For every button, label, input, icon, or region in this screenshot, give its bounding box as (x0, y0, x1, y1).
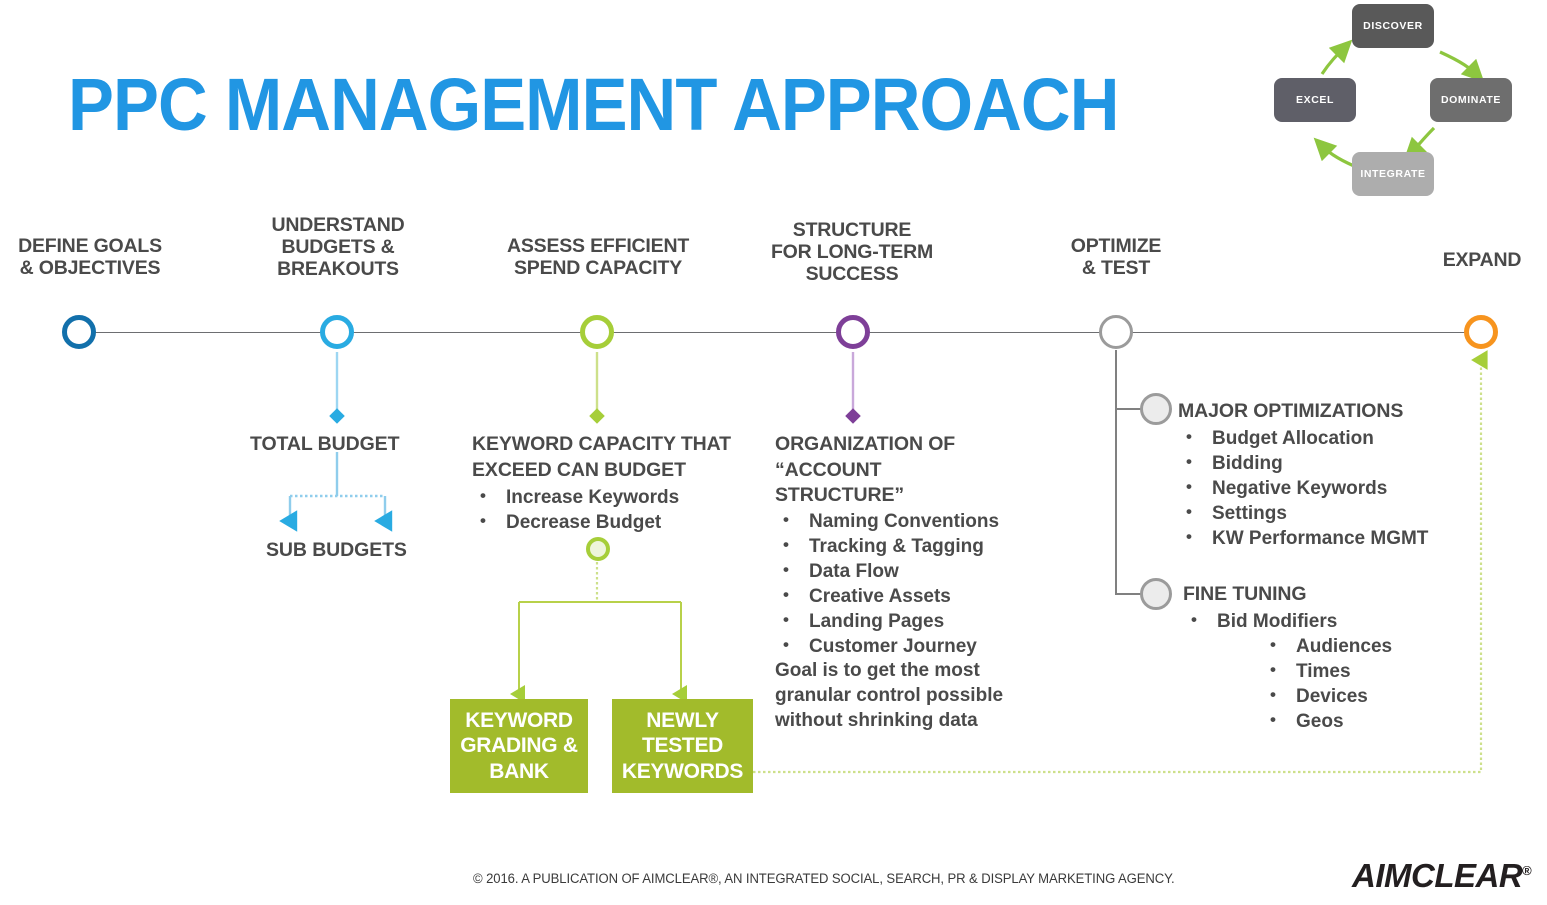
account-structure-bullets: Naming Conventions Tracking & Tagging Da… (775, 509, 1065, 659)
list-item: Decrease Budget (472, 510, 772, 535)
list-item: Geos (1262, 709, 1532, 734)
list-item: Customer Journey (775, 634, 1065, 659)
list-item: Negative Keywords (1178, 476, 1508, 501)
sub-budgets-label: SUB BUDGETS (266, 538, 486, 564)
registered-mark-icon: ® (1522, 863, 1531, 878)
page-title: PPC MANAGEMENT APPROACH (68, 68, 1118, 142)
timeline-label-assess-capacity: ASSESS EFFICIENT SPEND CAPACITY (488, 236, 708, 280)
major-optimizations-bullets: Budget Allocation Bidding Negative Keywo… (1178, 426, 1508, 551)
list-item: Increase Keywords (472, 485, 772, 510)
list-item: KW Performance MGMT (1178, 526, 1508, 551)
timeline-node-optimize-test[interactable] (1099, 315, 1133, 349)
total-budget-label: TOTAL BUDGET (250, 432, 470, 458)
timeline-node-structure[interactable] (836, 315, 870, 349)
aimclear-logo-text: AIMCLEAR (1352, 857, 1522, 894)
cycle-node-discover[interactable]: DISCOVER (1352, 4, 1434, 48)
list-item: Audiences (1262, 634, 1532, 659)
list-item: Settings (1178, 501, 1508, 526)
list-item: Bid Modifiers (1183, 609, 1513, 634)
keyword-capacity-branch-node[interactable] (586, 537, 610, 561)
keyword-capacity-bullets: Increase Keywords Decrease Budget (472, 485, 772, 535)
fine-tuning-node[interactable] (1140, 578, 1172, 610)
list-item: Devices (1262, 684, 1532, 709)
fine-tuning-sub-bullets: Audiences Times Devices Geos (1262, 634, 1532, 734)
list-item: Tracking & Tagging (775, 534, 1065, 559)
footer-copyright: © 2016. A PUBLICATION OF AIMCLEAR®, AN I… (473, 871, 1175, 886)
timeline-node-define-goals[interactable] (62, 315, 96, 349)
major-optimizations-heading: MAJOR OPTIMIZATIONS (1178, 399, 1478, 425)
major-optimizations-node[interactable] (1140, 393, 1172, 425)
account-structure-note: Goal is to get the most granular control… (775, 658, 1065, 733)
timeline-label-optimize-test: OPTIMIZE & TEST (1030, 236, 1202, 280)
discover-dominate-integrate-excel-cycle: DISCOVER DOMINATE INTEGRATE EXCEL (1272, 0, 1532, 212)
timeline-node-understand-budgets[interactable] (320, 315, 354, 349)
account-structure-heading: ORGANIZATION OF “ACCOUNT STRUCTURE” (775, 432, 1045, 509)
keyword-capacity-heading: KEYWORD CAPACITY THAT EXCEED CAN BUDGET (472, 432, 772, 483)
list-item: Bidding (1178, 451, 1508, 476)
cycle-node-integrate[interactable]: INTEGRATE (1352, 152, 1434, 196)
timeline-axis (78, 332, 1482, 333)
list-item: Times (1262, 659, 1532, 684)
timeline-label-define-goals: DEFINE GOALS & OBJECTIVES (0, 236, 188, 280)
timeline-node-expand[interactable] (1464, 315, 1498, 349)
timeline-node-assess-capacity[interactable] (580, 315, 614, 349)
list-item: Creative Assets (775, 584, 1065, 609)
list-item: Landing Pages (775, 609, 1065, 634)
fine-tuning-heading: FINE TUNING (1183, 582, 1483, 608)
list-item: Data Flow (775, 559, 1065, 584)
ppc-management-approach-slide: PPC MANAGEMENT APPROACH DISCOVER DOMINAT… (0, 0, 1547, 905)
newly-tested-keywords-box[interactable]: NEWLY TESTED KEYWORDS (612, 699, 753, 793)
list-item: Budget Allocation (1178, 426, 1508, 451)
cycle-node-excel[interactable]: EXCEL (1274, 78, 1356, 122)
aimclear-logo: AIMCLEAR® (1352, 857, 1531, 895)
cycle-node-dominate[interactable]: DOMINATE (1430, 78, 1512, 122)
timeline-label-understand-budgets: UNDERSTAND BUDGETS & BREAKOUTS (240, 215, 436, 280)
fine-tuning-bullets: Bid Modifiers (1183, 609, 1513, 634)
keyword-grading-bank-box[interactable]: KEYWORD GRADING & BANK (450, 699, 588, 793)
timeline-label-structure: STRUCTURE FOR LONG-TERM SUCCESS (752, 220, 952, 285)
timeline-label-expand: EXPAND (1396, 250, 1547, 272)
list-item: Naming Conventions (775, 509, 1065, 534)
